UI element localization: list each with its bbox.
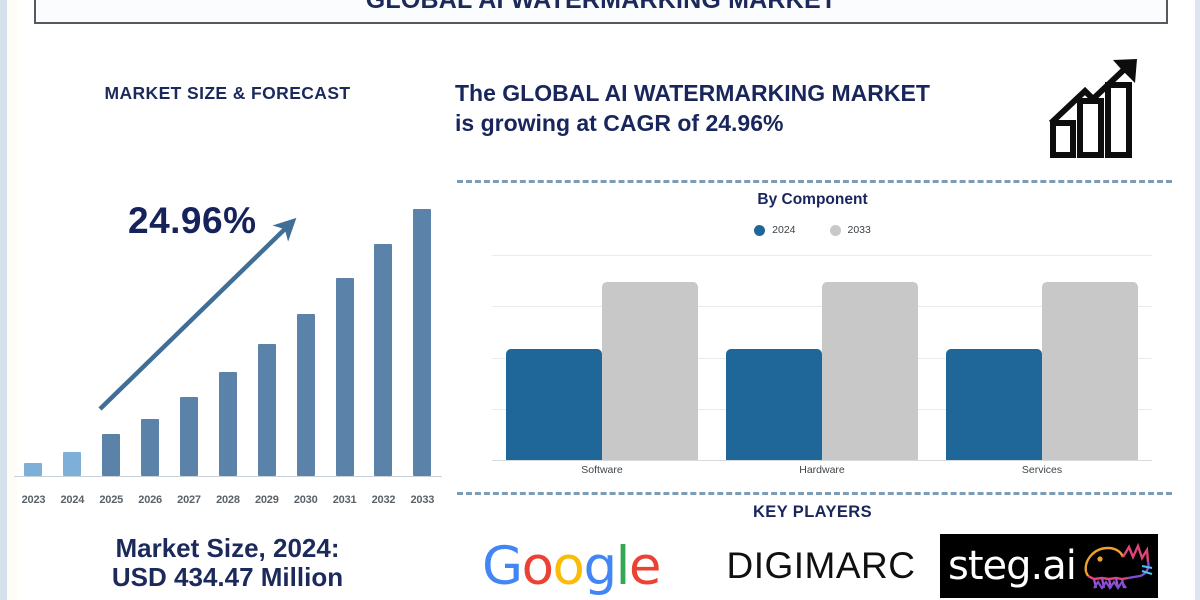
year-label: 2032 <box>364 494 403 506</box>
category-label-software: Software <box>506 464 698 476</box>
legend-item-2024: 2024 <box>754 224 795 236</box>
growth-arrow-bar-icon <box>1047 55 1147 160</box>
bar-2032 <box>374 244 392 476</box>
bar-slot <box>131 196 170 476</box>
digimarc-logo: DIGIMARC <box>710 545 932 587</box>
key-players-logos: Google DIGIMARC steg.ai <box>455 532 1170 600</box>
cagr-statement: The GLOBAL AI WATERMARKING MARKET is gro… <box>455 78 1055 139</box>
legend-dot-2024 <box>754 225 765 236</box>
market-size-line-1: Market Size, 2024: <box>0 534 455 563</box>
bar-2028 <box>219 372 237 476</box>
legend-item-2033: 2033 <box>830 224 871 236</box>
legend-dot-2033 <box>830 225 841 236</box>
year-label: 2024 <box>53 494 92 506</box>
by-component-bars <box>492 255 1152 460</box>
comp-bar-hardware-2024 <box>726 349 822 460</box>
bar-slot <box>208 196 247 476</box>
bar-slot <box>53 196 92 476</box>
year-label: 2028 <box>208 494 247 506</box>
by-component-title: By Component <box>455 191 1170 209</box>
year-label: 2033 <box>403 494 442 506</box>
bar-2025 <box>102 434 120 476</box>
year-label: 2030 <box>286 494 325 506</box>
cagr-statement-line-2: is growing at CAGR of 24.96% <box>455 108 1055 138</box>
infographic-page: GLOBAL AI WATERMARKING MARKET MARKET SIZ… <box>0 0 1200 600</box>
category-label-services: Services <box>946 464 1138 476</box>
comp-bar-hardware-2033 <box>822 282 918 460</box>
year-label: 2031 <box>325 494 364 506</box>
bar-chart-year-labels: 2023 2024 2025 2026 2027 2028 2029 2030 … <box>14 494 442 506</box>
category-label-hardware: Hardware <box>726 464 918 476</box>
market-size-value-block: Market Size, 2024: USD 434.47 Million <box>0 534 455 592</box>
key-players-title: KEY PLAYERS <box>455 503 1170 522</box>
divider-top <box>457 180 1172 183</box>
by-component-axis-line <box>492 460 1152 461</box>
legend-label-2024: 2024 <box>772 224 795 236</box>
year-label: 2025 <box>92 494 131 506</box>
bar-2024 <box>63 452 81 476</box>
legend-label-2033: 2033 <box>848 224 871 236</box>
by-component-legend: 2024 2033 <box>455 224 1170 236</box>
bar-slot <box>247 196 286 476</box>
comp-bar-services-2024 <box>946 349 1042 460</box>
market-size-line-2: USD 434.47 Million <box>0 563 455 592</box>
comp-bar-software-2033 <box>602 282 698 460</box>
bar-slot <box>364 196 403 476</box>
year-label: 2023 <box>14 494 53 506</box>
steg-ai-logo-text: steg.ai <box>948 543 1076 589</box>
year-label: 2027 <box>170 494 209 506</box>
steg-ai-creature-icon <box>1076 538 1154 594</box>
comp-bar-software-2024 <box>506 349 602 460</box>
bar-chart-bars <box>14 196 442 476</box>
comp-group-hardware <box>726 255 918 460</box>
bar-slot <box>92 196 131 476</box>
bar-2029 <box>258 344 276 476</box>
steg-ai-logo: steg.ai <box>940 534 1158 598</box>
market-size-forecast-heading: MARKET SIZE & FORECAST <box>0 83 455 104</box>
cagr-statement-line-1: The GLOBAL AI WATERMARKING MARKET <box>455 78 1055 108</box>
bar-chart-axis-line <box>14 476 442 477</box>
bar-2031 <box>336 278 354 476</box>
bar-slot <box>325 196 364 476</box>
bar-2023 <box>24 463 42 476</box>
comp-group-software <box>506 255 698 460</box>
market-size-forecast-panel: MARKET SIZE & FORECAST 24.96% 2023 2024 <box>0 28 455 600</box>
by-component-category-labels: Software Hardware Services <box>492 464 1152 476</box>
comp-group-services <box>946 255 1138 460</box>
bar-2033 <box>413 209 431 476</box>
by-component-bar-chart: Software Hardware Services <box>457 255 1172 490</box>
year-label: 2026 <box>131 494 170 506</box>
right-panel: The GLOBAL AI WATERMARKING MARKET is gro… <box>455 0 1200 600</box>
comp-bar-services-2033 <box>1042 282 1138 460</box>
bar-slot <box>170 196 209 476</box>
year-label: 2029 <box>247 494 286 506</box>
bar-slot <box>286 196 325 476</box>
bar-slot <box>14 196 53 476</box>
google-logo: Google <box>460 536 682 597</box>
bar-2026 <box>141 419 159 476</box>
bar-slot <box>403 196 442 476</box>
bar-2030 <box>297 314 315 476</box>
divider-bottom <box>457 492 1172 495</box>
market-size-bar-chart: 2023 2024 2025 2026 2027 2028 2029 2030 … <box>0 188 455 528</box>
bar-2027 <box>180 397 198 476</box>
